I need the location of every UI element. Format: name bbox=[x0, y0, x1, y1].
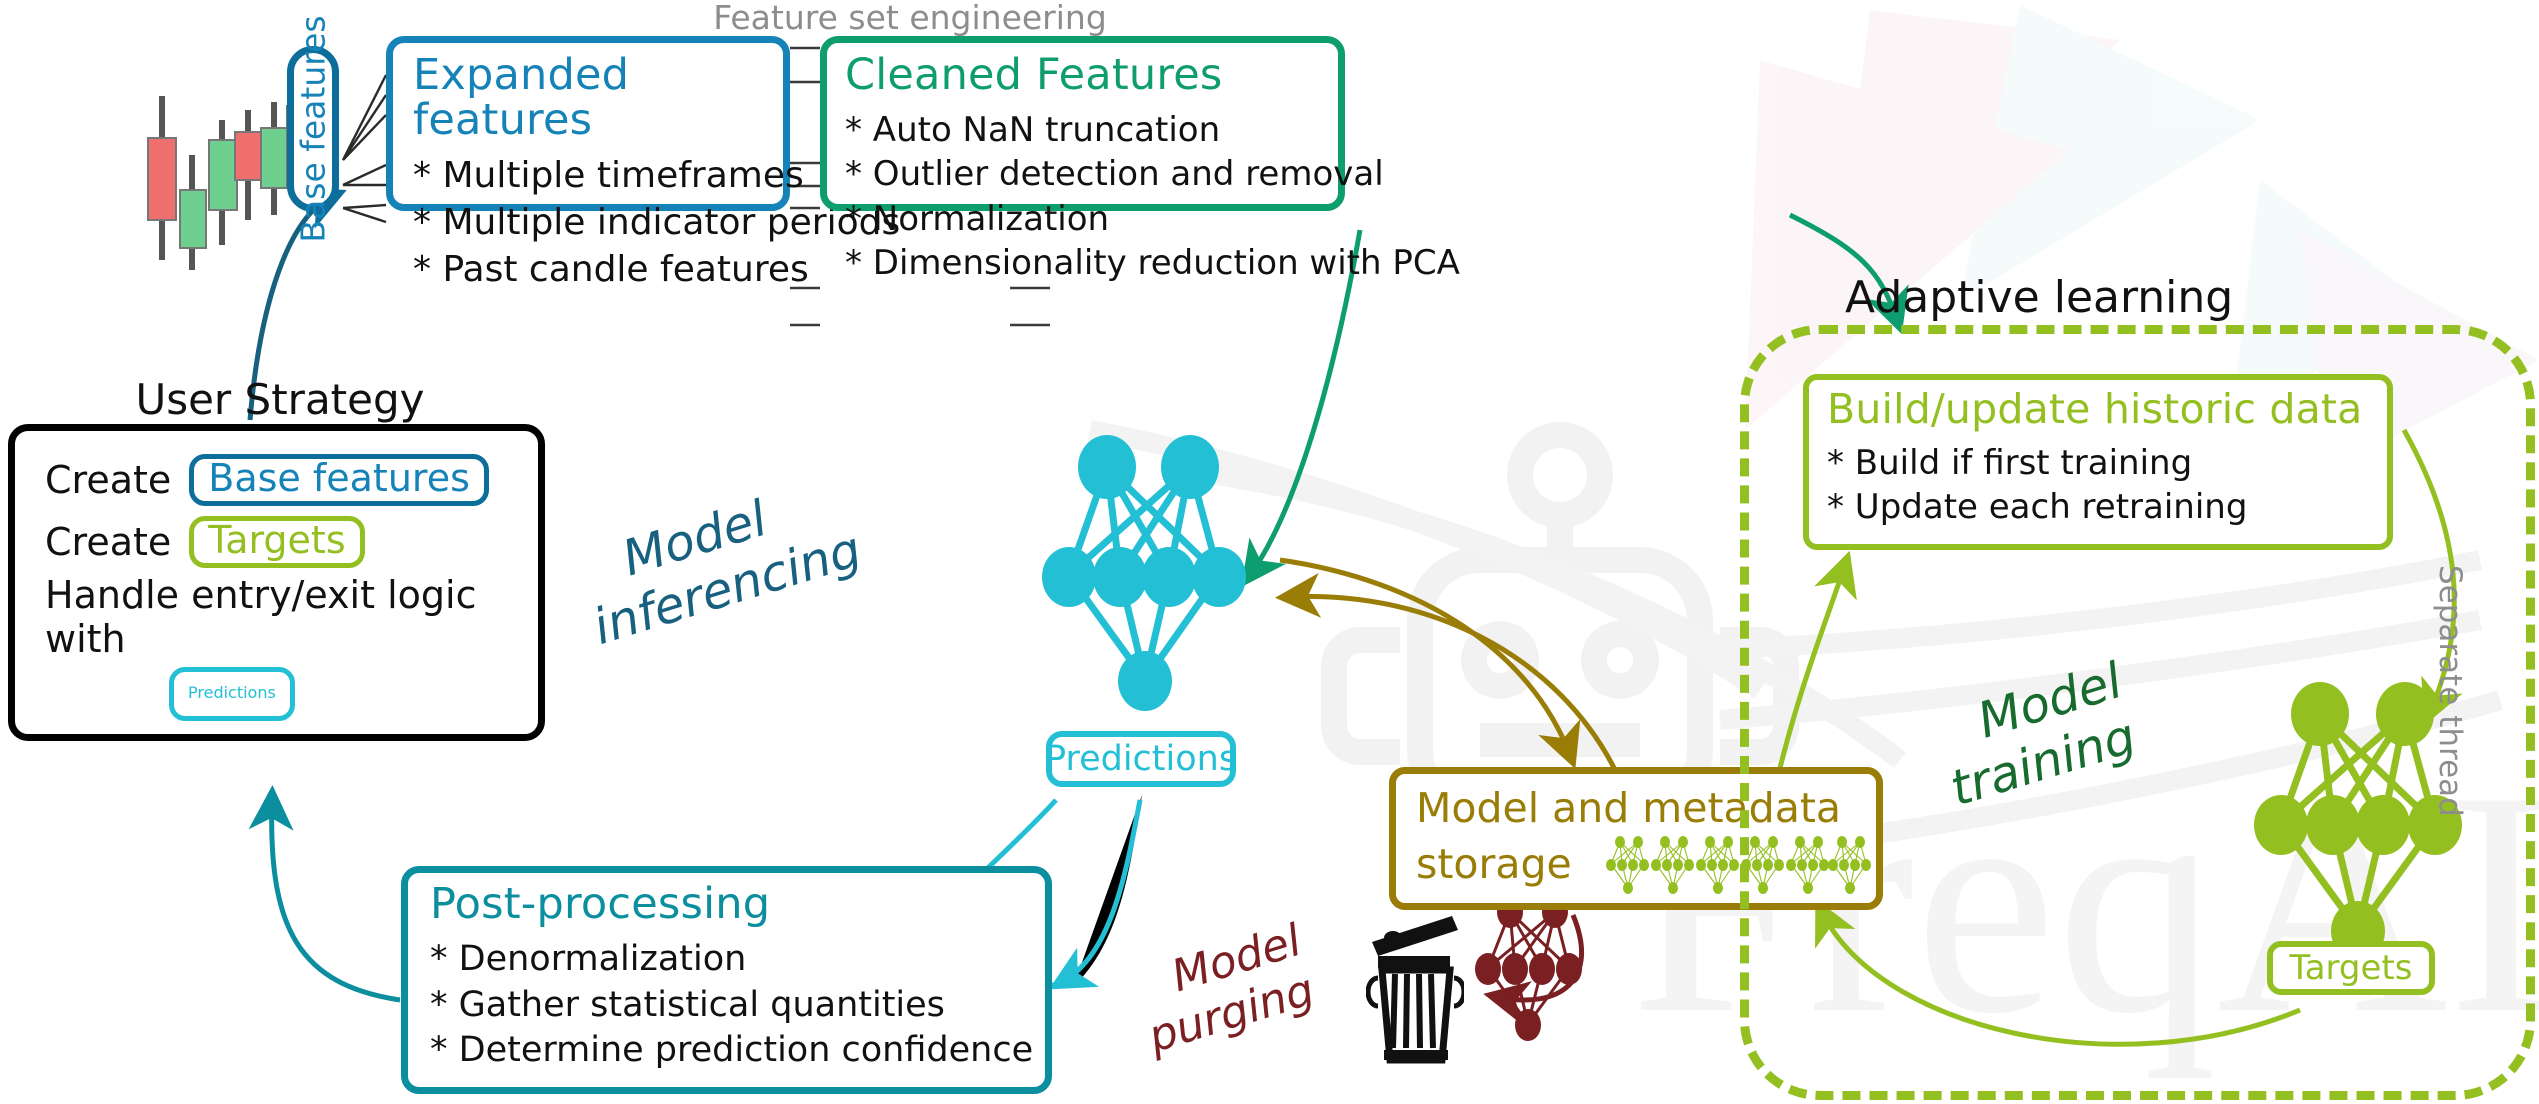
bullet: * Outlier detection and removal bbox=[845, 152, 1322, 196]
targets-pill-inline[interactable]: Targets bbox=[189, 516, 364, 568]
cleaned-features-card[interactable]: Cleaned Features * Auto NaN truncation *… bbox=[820, 36, 1345, 211]
adaptive-learning-title: Adaptive learning bbox=[1845, 272, 2405, 323]
freqai-architecture-diagram: FreqAI bbox=[0, 0, 2539, 1104]
storage-title-line2: storage bbox=[1416, 840, 1572, 888]
base-features-pill-inline[interactable]: Base features bbox=[189, 454, 489, 506]
predictions-pill[interactable]: Predictions bbox=[1046, 731, 1236, 787]
base-features-pill-label: Base features bbox=[294, 15, 333, 242]
expanded-features-title: Expanded features bbox=[413, 53, 767, 143]
user-strategy-card[interactable]: Create Base features Create Targets Hand… bbox=[8, 424, 545, 741]
separate-thread-label: Separate thread bbox=[2432, 565, 2468, 817]
post-processing-bullets: * Denormalization * Gather statistical q… bbox=[430, 937, 1031, 1074]
user-strategy-row-3: Handle entry/exit logic with bbox=[15, 573, 538, 661]
bullet: * Dimensionality reduction with PCA bbox=[845, 241, 1322, 285]
user-strategy-title: User Strategy bbox=[0, 375, 560, 424]
create-label: Create bbox=[45, 520, 171, 564]
create-label: Create bbox=[45, 458, 171, 502]
bullet: * Determine prediction confidence bbox=[430, 1028, 1031, 1074]
base-features-pill[interactable]: Base features bbox=[287, 46, 339, 212]
post-processing-title: Post-processing bbox=[430, 882, 1031, 927]
post-processing-card[interactable]: Post-processing * Denormalization * Gath… bbox=[401, 866, 1052, 1094]
bullet: * Normalization bbox=[845, 197, 1322, 241]
bullet: * Gather statistical quantities bbox=[430, 983, 1031, 1029]
cleaned-features-bullets: * Auto NaN truncation * Outlier detectio… bbox=[845, 108, 1322, 285]
bullet: * Build if first training bbox=[1827, 441, 2373, 485]
build-update-title: Build/update historic data bbox=[1827, 388, 2373, 431]
bullet: * Past candle features bbox=[413, 247, 767, 294]
build-update-historic-data-card[interactable]: Build/update historic data * Build if fi… bbox=[1803, 374, 2393, 550]
predictions-pill-inline[interactable]: Predictions bbox=[169, 667, 295, 721]
bullet: * Multiple timeframes bbox=[413, 153, 767, 200]
user-strategy-row-2: Create Targets bbox=[15, 511, 538, 573]
neural-network-icon bbox=[1035, 425, 1260, 725]
targets-pill-label: Targets bbox=[2290, 948, 2413, 988]
user-strategy-row-1: Create Base features bbox=[15, 449, 538, 511]
bullet: * Update each retraining bbox=[1827, 485, 2373, 529]
cleaned-features-title: Cleaned Features bbox=[845, 53, 1322, 98]
bullet: * Multiple indicator periods bbox=[413, 200, 767, 247]
build-update-bullets: * Build if first training * Update each … bbox=[1827, 441, 2373, 529]
bullet: * Denormalization bbox=[430, 937, 1031, 983]
user-strategy-row-4: Predictions bbox=[15, 667, 538, 721]
bullet: * Auto NaN truncation bbox=[845, 108, 1322, 152]
targets-pill[interactable]: Targets bbox=[2267, 941, 2435, 995]
expanded-features-card[interactable]: Expanded features * Multiple timeframes … bbox=[386, 36, 790, 211]
trash-can-icon bbox=[1366, 908, 1464, 1068]
feature-set-engineering-label: Feature set engineering bbox=[630, 0, 1190, 37]
expanded-features-bullets: * Multiple timeframes * Multiple indicat… bbox=[413, 153, 767, 293]
predictions-pill-label: Predictions bbox=[1045, 739, 1237, 779]
neural-network-icon bbox=[1470, 890, 1600, 1050]
